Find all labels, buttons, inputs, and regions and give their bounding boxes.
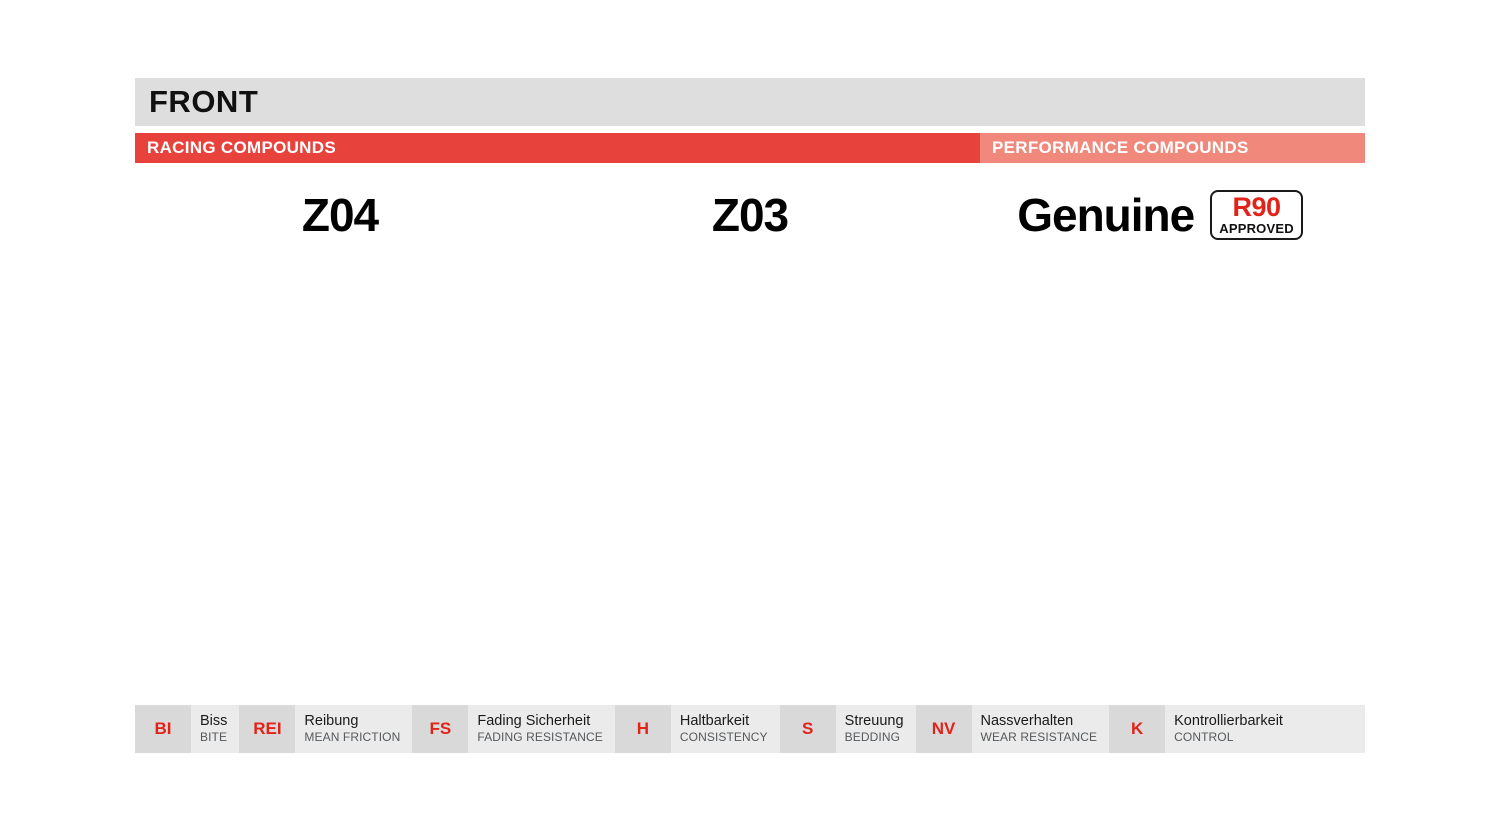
legend-item-h: HHaltbarkeitCONSISTENCY [615,705,780,753]
legend-abbr: NV [916,705,972,753]
legend-label-en: WEAR RESISTANCE [981,730,1098,744]
header-title-bar: FRONT [135,78,1365,126]
compound-title-genuine: Genuine R90 APPROVED [955,180,1365,250]
radar-chart-z03 [545,255,955,670]
legend-item-nv: NVNassverhaltenWEAR RESISTANCE [916,705,1110,753]
category-performance-label: PERFORMANCE COMPOUNDS [980,138,1249,158]
r90-badge-line1: R90 [1233,194,1281,221]
legend-abbr: BI [135,705,191,753]
r90-badge-line2: APPROVED [1219,222,1294,235]
compound-name: Z04 [302,188,378,242]
legend-label-en: FADING RESISTANCE [477,730,603,744]
compound-title-z04: Z04 [135,180,545,250]
category-bar: RACING COMPOUNDS PERFORMANCE COMPOUNDS [135,133,1365,163]
legend-text: Fading SicherheitFADING RESISTANCE [468,705,615,753]
radar-charts-row [135,255,1365,670]
legend-item-k: KKontrollierbarkeitCONTROL [1109,705,1295,753]
legend-label-de: Fading Sicherheit [477,713,603,730]
legend-abbr: FS [412,705,468,753]
legend-label-en: CONSISTENCY [680,730,768,744]
legend-label-en: BITE [200,730,227,744]
legend-text: KontrollierbarkeitCONTROL [1165,705,1295,753]
legend-text: StreuungBEDDING [836,705,916,753]
legend-text: BissBITE [191,705,239,753]
legend-text: NassverhaltenWEAR RESISTANCE [972,705,1110,753]
compound-name: Z03 [712,188,788,242]
legend-item-bi: BIBissBITE [135,705,239,753]
legend-label-de: Haltbarkeit [680,713,768,730]
legend-bar: BIBissBITEREIReibungMEAN FRICTIONFSFadin… [135,705,1365,753]
legend-label-de: Streuung [845,713,904,730]
legend-text: ReibungMEAN FRICTION [295,705,412,753]
compound-title-z03: Z03 [545,180,955,250]
radar-chart-genuine [955,255,1365,670]
category-racing-compounds: RACING COMPOUNDS [135,133,980,163]
legend-label-de: Kontrollierbarkeit [1174,713,1283,730]
legend-label-en: MEAN FRICTION [304,730,400,744]
legend-abbr: REI [239,705,295,753]
compound-titles-row: Z04 Z03 Genuine R90 APPROVED [135,180,1365,250]
legend-item-fs: FSFading SicherheitFADING RESISTANCE [412,705,615,753]
compound-name: Genuine [1017,188,1194,242]
legend-label-de: Reibung [304,713,400,730]
legend-label-de: Nassverhalten [981,713,1098,730]
category-performance-compounds: PERFORMANCE COMPOUNDS [980,133,1365,163]
legend-abbr: S [780,705,836,753]
page-title: FRONT [135,84,258,120]
legend-item-s: SStreuungBEDDING [780,705,916,753]
legend-abbr: H [615,705,671,753]
r90-approved-badge: R90 APPROVED [1210,190,1303,240]
category-racing-label: RACING COMPOUNDS [135,138,336,158]
legend-label-en: CONTROL [1174,730,1283,744]
legend-abbr: K [1109,705,1165,753]
radar-chart-z04 [135,255,545,670]
legend-text: HaltbarkeitCONSISTENCY [671,705,780,753]
legend-label-de: Biss [200,713,227,730]
legend-label-en: BEDDING [845,730,904,744]
legend-item-rei: REIReibungMEAN FRICTION [239,705,412,753]
